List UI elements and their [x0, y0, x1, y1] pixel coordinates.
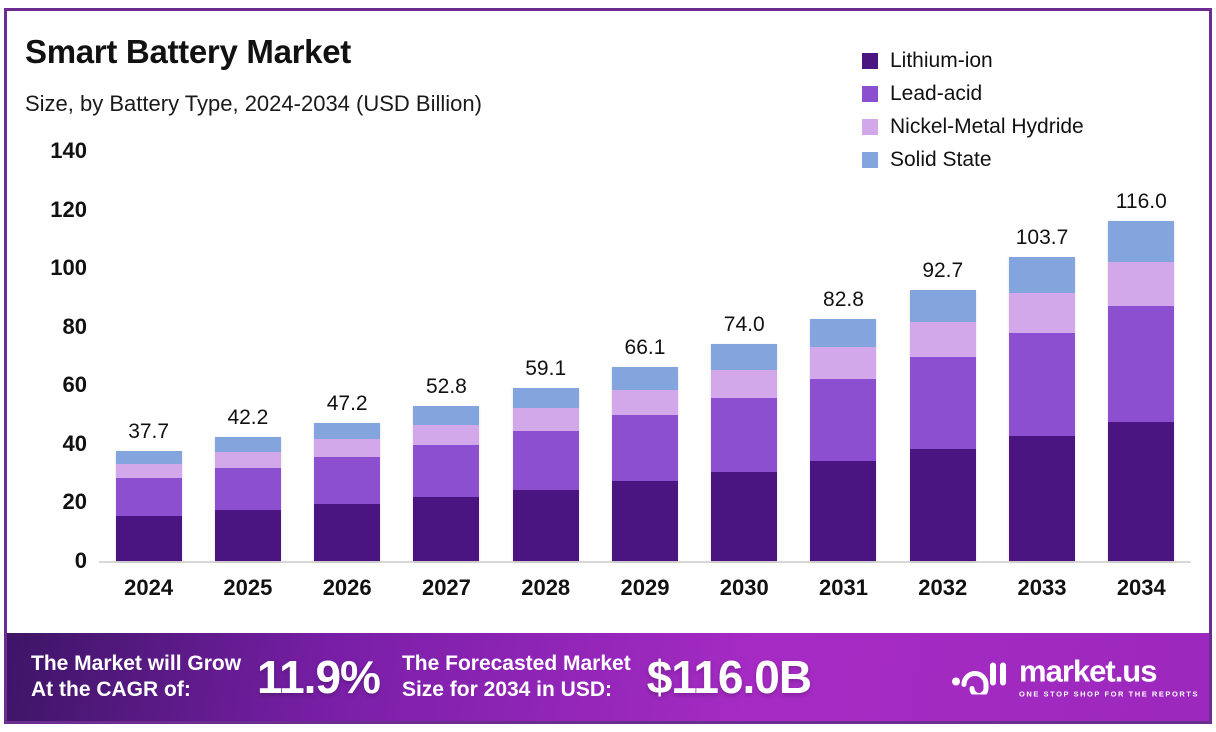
bar-segment [116, 464, 182, 478]
bar-total-label: 47.2 [327, 392, 368, 416]
bar-stack [612, 367, 678, 561]
bar-segment [810, 319, 876, 348]
bar-segment [314, 439, 380, 457]
bar-total-label: 66.1 [625, 336, 666, 360]
bar-segment [910, 290, 976, 322]
x-axis-label: 2030 [695, 575, 794, 601]
bar-series-group: 37.742.247.252.859.166.174.082.892.7103.… [99, 151, 1191, 561]
y-axis-tick-label: 100 [50, 255, 87, 281]
bar-segment [513, 490, 579, 561]
cagr-caption: The Market will Grow At the CAGR of: [31, 651, 241, 702]
bar-total-label: 37.7 [128, 420, 169, 444]
bar-total-label: 52.8 [426, 375, 467, 399]
y-axis-tick-label: 20 [63, 489, 87, 515]
bar-segment [1009, 293, 1075, 333]
bar-segment [711, 472, 777, 561]
bar-column[interactable]: 82.8 [794, 151, 893, 561]
bar-segment [116, 451, 182, 464]
forecast-value: $116.0B [647, 650, 811, 704]
bar-segment [1009, 333, 1075, 436]
y-axis-tick-label: 140 [50, 138, 87, 164]
x-axis-label: 2027 [397, 575, 496, 601]
bar-segment [711, 370, 777, 398]
bar-segment [711, 398, 777, 472]
bar-segment [1108, 422, 1174, 561]
bar-segment [1108, 221, 1174, 262]
x-axis-baseline [99, 561, 1191, 563]
bar-total-label: 92.7 [922, 259, 963, 283]
summary-banner: The Market will Grow At the CAGR of: 11.… [7, 633, 1212, 721]
bar-segment [215, 452, 281, 468]
bar-stack [711, 344, 777, 561]
bar-total-label: 116.0 [1116, 190, 1167, 214]
forecast-caption: The Forecasted Market Size for 2034 in U… [402, 651, 631, 702]
market-us-logo[interactable]: market.us ONE STOP SHOP FOR THE REPORTS [951, 655, 1199, 700]
y-axis-tick-label: 40 [63, 431, 87, 457]
bar-segment [910, 322, 976, 357]
y-axis-tick-label: 120 [50, 197, 87, 223]
bar-total-label: 82.8 [823, 288, 864, 312]
bar-segment [612, 415, 678, 481]
x-axis-labels: 2024202520262027202820292030203120322033… [99, 575, 1191, 601]
bar-column[interactable]: 74.0 [695, 151, 794, 561]
y-axis: 020406080100120140 [7, 11, 99, 571]
bar-total-label: 42.2 [227, 406, 268, 430]
bar-column[interactable]: 92.7 [893, 151, 992, 561]
bar-stack [513, 388, 579, 561]
bar-segment [810, 379, 876, 462]
bar-stack [413, 406, 479, 561]
chart-plot-area: 020406080100120140 37.742.247.252.859.16… [7, 11, 1212, 724]
bar-segment [1009, 257, 1075, 293]
bar-segment [513, 431, 579, 490]
bar-segment [314, 423, 380, 440]
bar-segment [413, 406, 479, 424]
y-axis-tick-label: 60 [63, 372, 87, 398]
bar-column[interactable]: 103.7 [992, 151, 1091, 561]
bar-column[interactable]: 47.2 [298, 151, 397, 561]
bar-segment [116, 478, 182, 515]
y-axis-tick-label: 0 [75, 548, 87, 574]
bar-segment [910, 449, 976, 561]
bar-column[interactable]: 66.1 [595, 151, 694, 561]
bar-segment [215, 468, 281, 510]
bar-segment [810, 347, 876, 379]
bar-segment [612, 481, 678, 561]
bar-segment [1009, 436, 1075, 561]
x-axis-label: 2029 [595, 575, 694, 601]
bar-segment [413, 425, 479, 445]
x-axis-label: 2034 [1092, 575, 1191, 601]
bar-segment [513, 408, 579, 431]
bar-segment [910, 357, 976, 449]
bar-total-label: 74.0 [724, 313, 765, 337]
x-axis-label: 2031 [794, 575, 893, 601]
cagr-value: 11.9% [257, 650, 380, 704]
chart-frame: Smart Battery Market Size, by Battery Ty… [4, 8, 1212, 724]
bar-stack [810, 319, 876, 561]
y-axis-tick-label: 80 [63, 314, 87, 340]
bar-stack [1009, 257, 1075, 561]
bar-segment [215, 510, 281, 561]
x-axis-label: 2028 [496, 575, 595, 601]
bar-column[interactable]: 59.1 [496, 151, 595, 561]
bar-segment [413, 445, 479, 497]
bar-segment [711, 344, 777, 370]
bar-segment [413, 497, 479, 561]
market-us-logo-mark [951, 655, 1011, 700]
x-axis-label: 2025 [198, 575, 297, 601]
bar-stack [314, 423, 380, 561]
bar-column[interactable]: 37.7 [99, 151, 198, 561]
bar-segment [612, 390, 678, 415]
bar-segment [215, 437, 281, 452]
x-axis-label: 2026 [298, 575, 397, 601]
bar-segment [513, 388, 579, 409]
bar-stack [215, 437, 281, 561]
bar-segment [116, 516, 182, 561]
x-axis-label: 2032 [893, 575, 992, 601]
bar-segment [1108, 262, 1174, 306]
bar-column[interactable]: 52.8 [397, 151, 496, 561]
bar-segment [612, 367, 678, 390]
bar-segment [1108, 306, 1174, 421]
bar-stack [910, 290, 976, 561]
bar-total-label: 103.7 [1016, 226, 1069, 250]
x-axis-label: 2033 [992, 575, 1091, 601]
bar-stack [1108, 221, 1174, 561]
x-axis-label: 2024 [99, 575, 198, 601]
bar-segment [810, 461, 876, 561]
logo-name: market.us [1019, 656, 1199, 687]
bar-stack [116, 451, 182, 561]
bar-total-label: 59.1 [525, 357, 566, 381]
bar-column[interactable]: 116.0 [1092, 151, 1191, 561]
bar-segment [314, 457, 380, 504]
bar-segment [314, 504, 380, 561]
bar-column[interactable]: 42.2 [198, 151, 297, 561]
logo-tagline: ONE STOP SHOP FOR THE REPORTS [1019, 690, 1199, 699]
